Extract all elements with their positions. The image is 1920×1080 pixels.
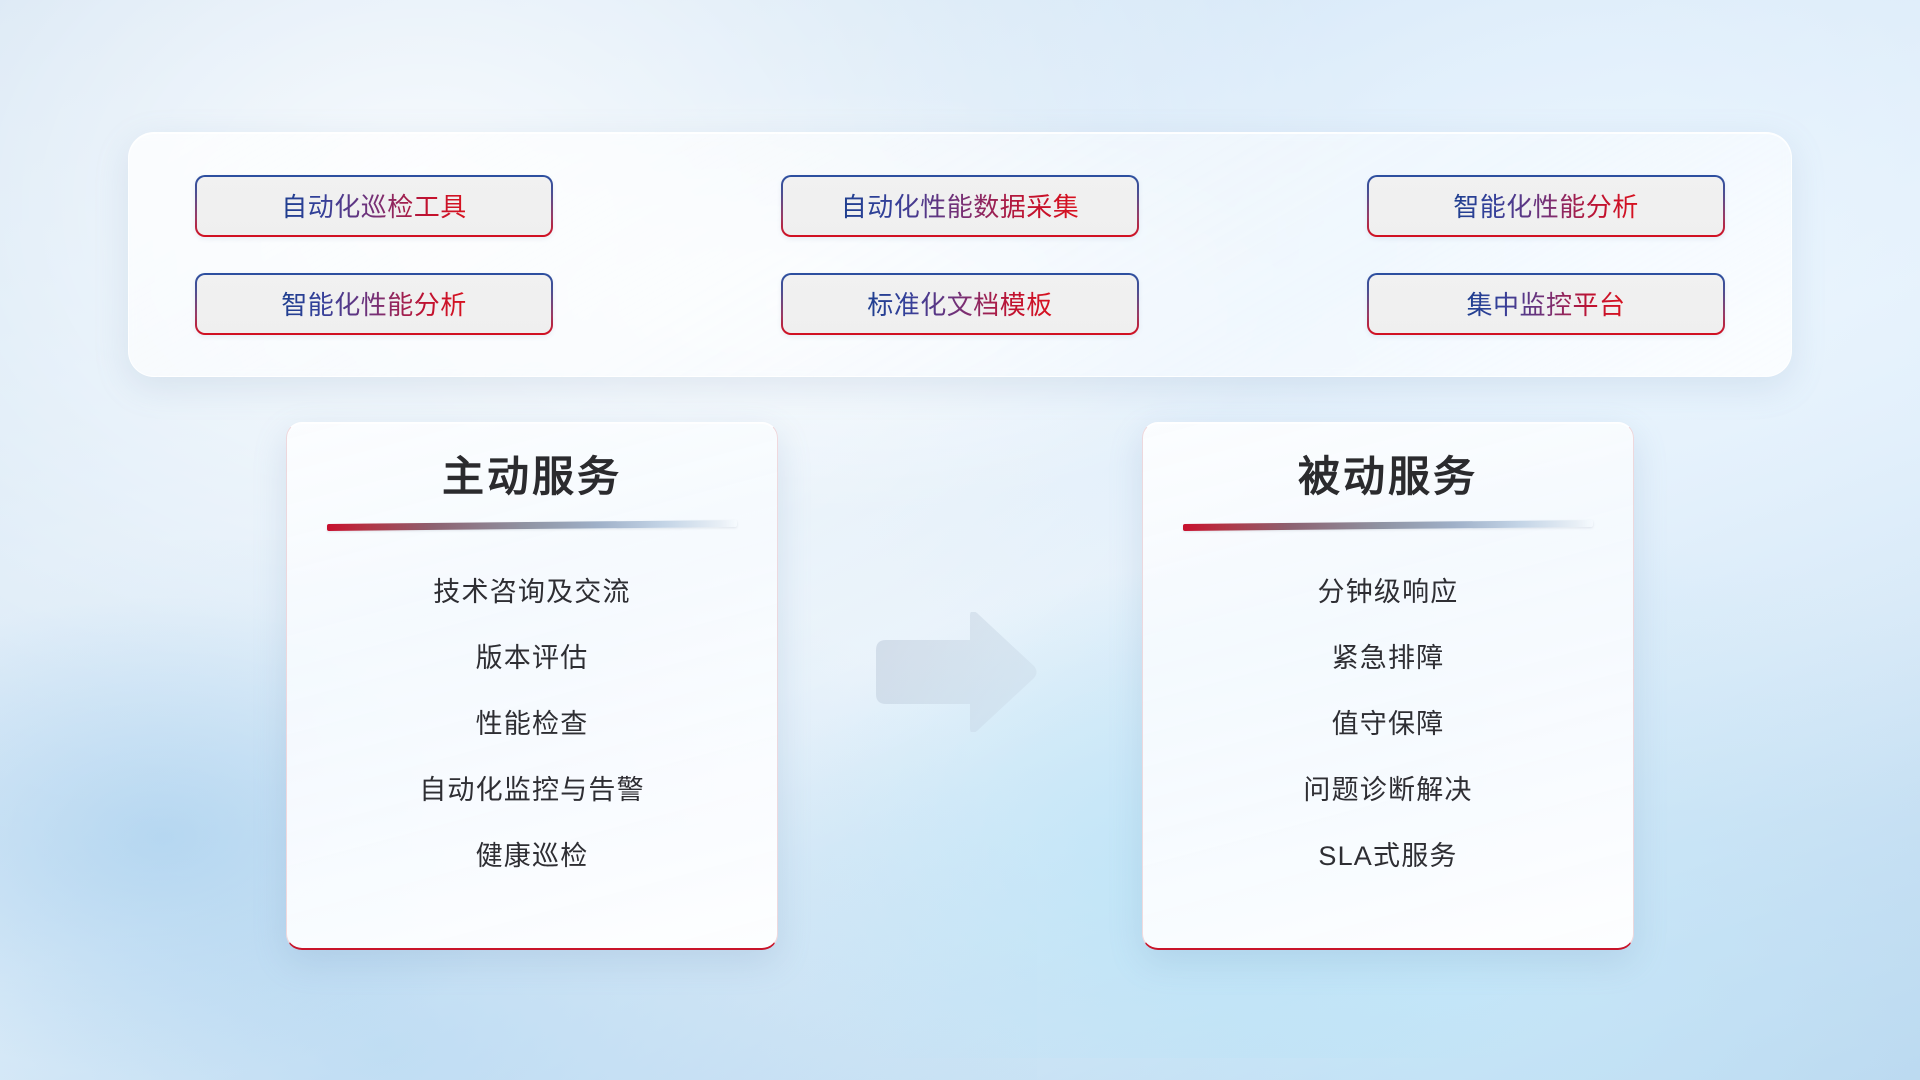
list-item: 值守保障	[1183, 707, 1593, 742]
capability-pill-label: 自动化巡检工具	[281, 187, 467, 224]
capability-pill-intelligent-performance-analysis-2[interactable]: 智能化性能分析	[195, 273, 553, 335]
capability-pill-label: 标准化文档模板	[867, 285, 1053, 322]
reactive-service-divider	[1183, 520, 1593, 531]
proactive-service-title: 主动服务	[327, 451, 737, 504]
right-arrow-icon	[870, 612, 1040, 732]
capability-pill-auto-inspection-tool[interactable]: 自动化巡检工具	[195, 175, 553, 237]
list-item: 版本评估	[327, 641, 737, 676]
list-item: 问题诊断解决	[1183, 773, 1593, 808]
list-item: 性能检查	[327, 707, 737, 742]
capability-pill-intelligent-performance-analysis[interactable]: 智能化性能分析	[1367, 175, 1725, 237]
list-item: 技术咨询及交流	[327, 575, 737, 610]
proactive-service-card: 主动服务 技术咨询及交流 版本评估 性能检查 自动化监控与告警 健康巡检	[286, 422, 778, 950]
proactive-service-divider	[327, 520, 737, 531]
capability-pill-label: 智能化性能分析	[1453, 187, 1639, 224]
capability-pill-standard-document-template[interactable]: 标准化文档模板	[781, 273, 1139, 335]
list-item: 健康巡检	[327, 839, 737, 874]
capability-panel: 自动化巡检工具 自动化性能数据采集 智能化性能分析 智能化性能分析 标准化文档模…	[128, 132, 1792, 377]
list-item: 分钟级响应	[1183, 575, 1593, 610]
list-item: 自动化监控与告警	[327, 773, 737, 808]
reactive-service-list: 分钟级响应 紧急排障 值守保障 问题诊断解决 SLA式服务	[1183, 575, 1593, 874]
capability-pill-label: 集中监控平台	[1466, 285, 1625, 322]
reactive-service-card: 被动服务 分钟级响应 紧急排障 值守保障 问题诊断解决 SLA式服务	[1142, 422, 1634, 950]
list-item: SLA式服务	[1183, 839, 1593, 874]
capability-pill-label: 自动化性能数据采集	[841, 187, 1080, 224]
proactive-service-list: 技术咨询及交流 版本评估 性能检查 自动化监控与告警 健康巡检	[327, 575, 737, 874]
reactive-service-title: 被动服务	[1183, 451, 1593, 504]
capability-row-1: 自动化巡检工具 自动化性能数据采集 智能化性能分析	[195, 175, 1725, 237]
capability-pill-centralized-monitoring-platform[interactable]: 集中监控平台	[1367, 273, 1725, 335]
capability-pill-auto-performance-data-collection[interactable]: 自动化性能数据采集	[781, 175, 1139, 237]
capability-row-2: 智能化性能分析 标准化文档模板 集中监控平台	[195, 273, 1725, 335]
capability-pill-label: 智能化性能分析	[281, 285, 467, 322]
list-item: 紧急排障	[1183, 641, 1593, 676]
